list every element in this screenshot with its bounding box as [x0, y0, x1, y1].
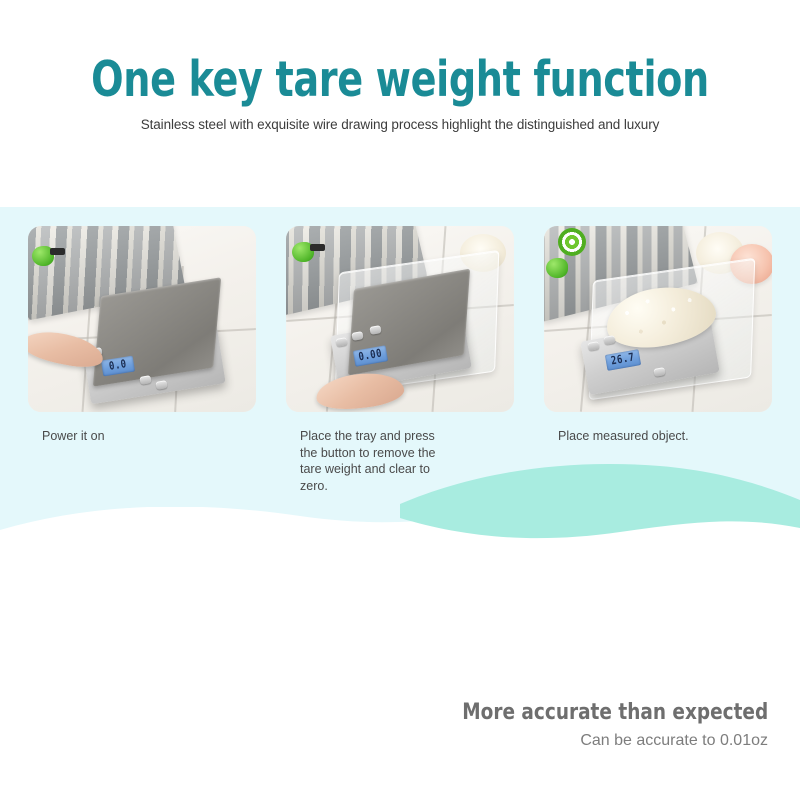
claim-subtitle: Can be accurate to 0.01oz	[404, 726, 768, 751]
claim-title: More accurate than expected	[462, 700, 768, 726]
scale-tare-tray-photo: 0.00	[286, 226, 514, 412]
lcd-reading: 0.0	[108, 358, 128, 373]
step-3: 26.7 Place measured object.	[544, 226, 772, 494]
steps-row: 0.0 Power it on	[28, 226, 772, 494]
step-2-caption: Place the tray and press the button to r…	[286, 412, 514, 494]
header: One key tare weight function Stainless s…	[0, 0, 800, 134]
green-clip-icon	[546, 258, 568, 278]
clip-handle	[50, 248, 65, 255]
accuracy-claim: More accurate than expected Can be accur…	[404, 700, 768, 751]
lcd-reading: 0.00	[358, 348, 383, 364]
step-1-caption: Power it on	[28, 412, 256, 445]
step-1: 0.0 Power it on	[28, 226, 256, 494]
step-3-caption: Place measured object.	[544, 412, 772, 445]
page-subtitle: Stainless steel with exquisite wire draw…	[0, 108, 800, 134]
scale-measure-object-photo: 26.7	[544, 226, 772, 412]
lcd-reading: 26.7	[610, 352, 635, 368]
clip-handle	[310, 244, 325, 251]
step-2: 0.00 Place the tray and press the button…	[286, 226, 514, 494]
green-swirl-pattern	[558, 228, 586, 256]
infographic-page: One key tare weight function Stainless s…	[0, 0, 800, 800]
scale-power-on-photo: 0.0	[28, 226, 256, 412]
page-title: One key tare weight function	[88, 0, 712, 108]
